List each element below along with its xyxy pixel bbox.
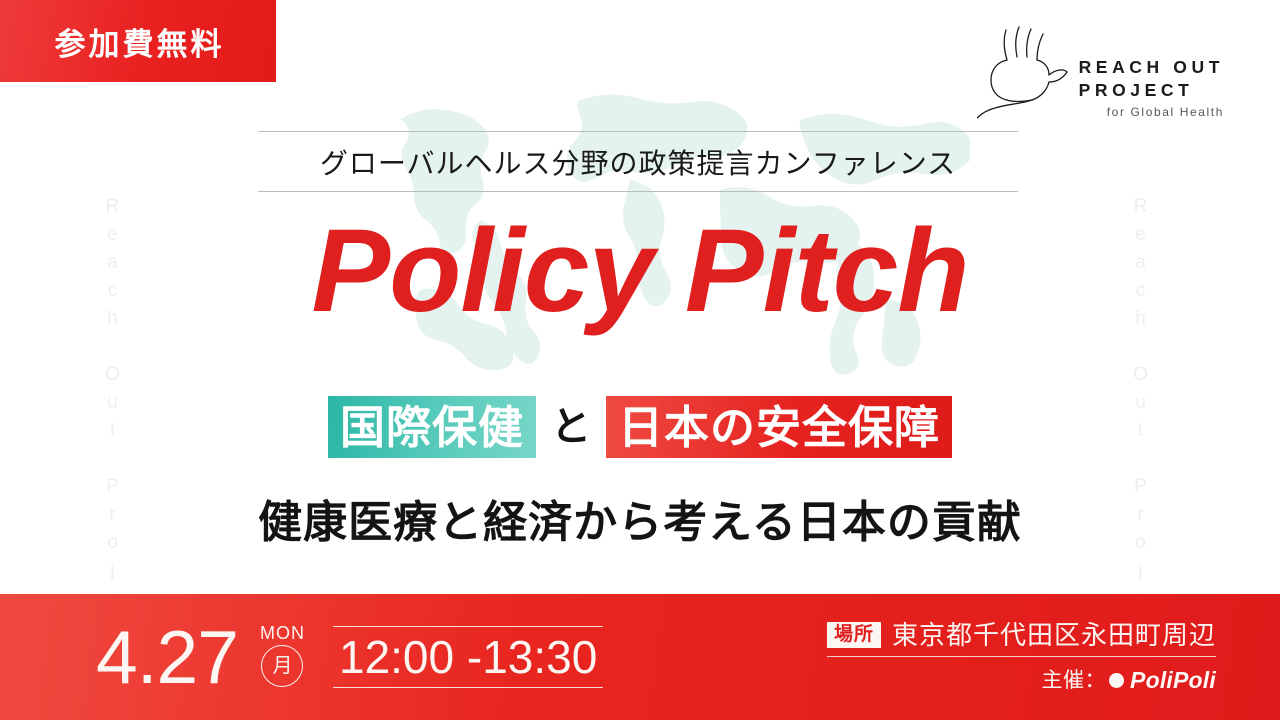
day-of-week-en: MON <box>260 624 305 642</box>
theme-chip-global-health: 国際保健 <box>328 396 536 458</box>
polipoli-dot-icon <box>1109 673 1124 688</box>
hand-dove-icon <box>977 20 1069 120</box>
free-admission-badge: 参加費無料 <box>0 0 276 82</box>
day-of-week-jp: 月 <box>261 645 303 687</box>
theme-chip-japan-security: 日本の安全保障 <box>606 396 952 458</box>
conference-subtitle: グローバルヘルス分野の政策提言カンファレンス <box>258 132 1018 191</box>
theme-conjunction: と <box>549 407 593 447</box>
event-time-block: 12:00 -13:30 <box>333 626 603 687</box>
venue-value: 東京都千代田区永田町周辺 <box>892 622 1216 648</box>
event-time: 12:00 -13:30 <box>333 633 603 681</box>
host-label: 主催： <box>1042 670 1107 691</box>
venue-host-group: 場所 東京都千代田区永田町周辺 主催： PoliPoli <box>827 594 1216 720</box>
logo-line-2: PROJECT <box>1079 79 1224 102</box>
venue-row: 場所 東京都千代田区永田町周辺 <box>827 622 1216 657</box>
logo-wordmark: REACH OUT PROJECT for Global Health <box>1079 18 1224 119</box>
day-of-week-badge: MON 月 <box>260 624 305 687</box>
host-row: 主催： PoliPoli <box>1042 662 1216 692</box>
event-poster: Reach Out Project Reach Out Project 参加費無… <box>0 0 1280 720</box>
free-admission-label: 参加費無料 <box>52 19 225 64</box>
reach-out-project-logo: REACH OUT PROJECT for Global Health <box>977 18 1224 120</box>
event-date: 4.27 <box>96 620 238 695</box>
logo-tagline: for Global Health <box>1079 105 1224 119</box>
subtitle-rule-bottom <box>258 191 1018 192</box>
host-name: PoliPoli <box>1130 669 1216 692</box>
theme-highlight-row: 国際保健 と 日本の安全保障 <box>0 396 1280 458</box>
venue-label: 場所 <box>827 622 881 648</box>
theme-tagline: 健康医療と経済から考える日本の貢献 <box>0 486 1280 550</box>
page-title: Policy Pitch <box>0 212 1280 330</box>
logo-line-1: REACH OUT <box>1079 56 1224 79</box>
subtitle-block: グローバルヘルス分野の政策提言カンファレンス <box>258 131 1018 192</box>
event-details-footer: 4.27 MON 月 12:00 -13:30 場所 東京都千代田区永田町周辺 … <box>0 594 1280 720</box>
date-time-group: 4.27 MON 月 12:00 -13:30 <box>96 594 603 720</box>
